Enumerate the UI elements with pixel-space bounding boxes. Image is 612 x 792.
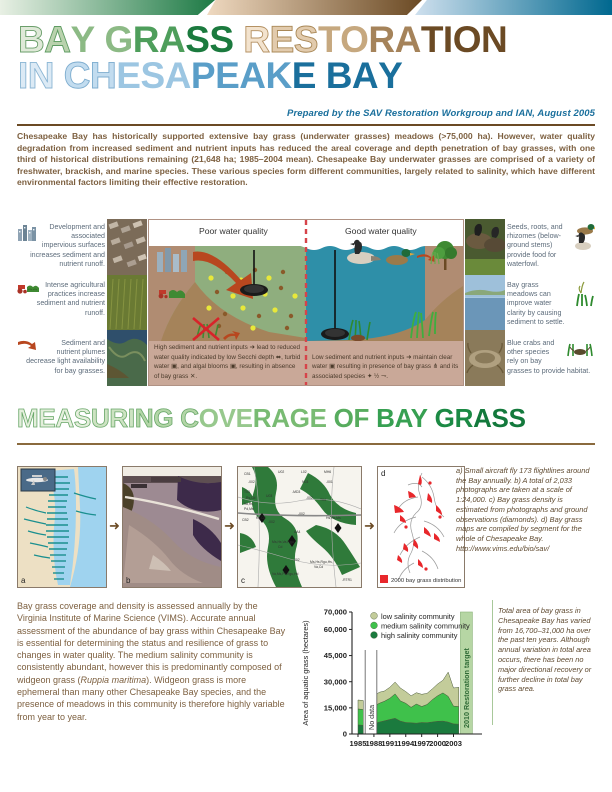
svg-text:Va,Ms,Pv,Rgu,Hd: Va,Ms,Pv,Rgu,Hd <box>272 572 299 576</box>
x-tick-label-1988: 1988 <box>365 739 382 748</box>
title-char: T <box>421 22 443 58</box>
chart-series-2-group-0 <box>358 700 363 710</box>
y-tick-label-45000: 45,000 <box>324 651 347 660</box>
svg-text:CB1: CB1 <box>244 472 251 476</box>
section-title-char: A <box>395 403 411 433</box>
arrow-a-to-b-icon: ➜ <box>109 518 120 534</box>
section-title-char: E <box>236 403 253 433</box>
title-char: S <box>140 58 164 94</box>
chart-sidenote: Total area of bay grass in Chesapeake Ba… <box>498 606 598 694</box>
svg-text:-001: -001 <box>326 480 333 484</box>
right-note-bluecrab: Blue crabs and other species rely on bay… <box>507 339 595 376</box>
title-char: B <box>326 58 352 94</box>
gradient-segment-green <box>0 0 215 15</box>
panel-a-flightlines[interactable]: a <box>17 466 107 588</box>
section-title-char: C <box>180 403 198 433</box>
title-char: K <box>265 58 291 94</box>
left-note-development: Development and associated impervious su… <box>17 223 105 269</box>
panel-d-legend-text: 2000 bay grass distribution <box>391 578 461 584</box>
svg-text:Ms,Hs,Rgu,Hs,: Ms,Hs,Rgu,Hs, <box>310 560 333 564</box>
left-notes-column: Development and associated impervious su… <box>17 219 105 386</box>
title-char: G <box>104 22 132 58</box>
grass-clarity-icon <box>573 281 595 310</box>
svg-text:-002: -002 <box>268 520 275 524</box>
title-char: A <box>44 22 70 58</box>
restoration-target-label: 2010 Restoration target <box>462 648 471 728</box>
title-char: S <box>185 22 209 58</box>
svg-text:202: 202 <box>294 558 300 562</box>
intro-paragraph: Chesapeake Bay has historically supporte… <box>17 131 595 189</box>
legend-swatch-2 <box>371 632 378 639</box>
title-char: A <box>395 22 421 58</box>
y-tick-label-0: 0 <box>343 730 347 739</box>
svg-text:Hs,Rs,Ms: Hs,Rs,Ms <box>326 516 341 520</box>
bottom-paragraph: Bay grass coverage and density is assess… <box>17 600 287 723</box>
section-title-char: I <box>128 403 135 433</box>
section-divider-rule <box>17 443 595 445</box>
svg-text:Pd,Ms: Pd,Ms <box>244 507 254 511</box>
title-char: N <box>28 58 54 94</box>
legend-swatch-0 <box>371 612 378 619</box>
section-title-char: Y <box>411 403 428 433</box>
title-char: N <box>481 22 507 58</box>
svg-text:T03: T03 <box>244 490 250 494</box>
blue-crab-icon <box>565 339 595 360</box>
y-tick-label-70000: 70,000 <box>324 608 347 617</box>
legend-swatch-red <box>380 575 388 583</box>
section-title-char: N <box>135 403 153 433</box>
left-photo-strip <box>107 219 147 386</box>
chart-series-0-group-0 <box>358 725 363 734</box>
left-note-plumes: Sediment and nutrient plumes decrease li… <box>17 339 105 376</box>
right-note-clarity: Bay grass meadows can improve water clar… <box>507 281 595 327</box>
section-title-char: R <box>109 403 127 433</box>
x-tick-label-2003: 2003 <box>445 739 462 748</box>
svg-text:CB2: CB2 <box>242 518 249 522</box>
svg-text:T04: T04 <box>320 498 326 502</box>
svg-text:AA4: AA4 <box>294 530 301 534</box>
species-name-italic: Ruppia maritima <box>81 675 147 685</box>
section-title-char: M <box>17 403 38 433</box>
title-divider-rule <box>17 124 595 126</box>
title-char: E <box>215 58 239 94</box>
byline: Prepared by the SAV Restoration Workgrou… <box>287 108 595 119</box>
title-char: O <box>340 22 368 58</box>
left-note-agriculture: Intense agricultural practices increase … <box>17 281 105 318</box>
title-char: S <box>294 22 318 58</box>
left-note-agriculture-text: Intense agricultural practices increase … <box>37 281 105 317</box>
title-line-1: BAY GRASS RESTORATION <box>18 22 598 58</box>
gradient-segment-tan <box>207 0 422 15</box>
water-quality-cross-section: Poor water quality Good water quality Hi… <box>148 219 464 386</box>
section-title-char: S <box>492 403 509 433</box>
title-char: C <box>64 58 90 94</box>
section-title-char <box>428 403 435 433</box>
title-char: E <box>270 22 294 58</box>
label-good-water-quality: Good water quality <box>345 226 417 236</box>
caption-good-water-quality: Low sediment and nutrient inputs ➜ maint… <box>312 353 460 381</box>
chart-sidenote-divider <box>492 600 493 725</box>
section-title-char: O <box>199 403 219 433</box>
gradient-segment-blue <box>415 0 612 15</box>
svg-text:U02: U02 <box>278 470 284 474</box>
left-note-development-text: Development and associated impervious su… <box>30 223 105 268</box>
panel-d-distribution-map[interactable]: d <box>377 466 465 588</box>
methods-note: a) Small aircraft fly 173 flightlines ar… <box>456 466 596 553</box>
section-title-char: E <box>38 403 55 433</box>
water-quality-diagram-band: Development and associated impervious su… <box>17 219 595 386</box>
section-title-char: U <box>91 403 109 433</box>
svg-text:N03: N03 <box>302 480 308 484</box>
panel-b-label: b <box>126 576 130 585</box>
panel-d-label: d <box>381 469 385 478</box>
svg-text:-002: -002 <box>306 496 313 500</box>
photo-suburb-farm-satellite <box>107 219 147 386</box>
arrow-b-to-c-icon: ➜ <box>224 518 235 534</box>
section-title-char <box>327 403 334 433</box>
svg-text:-002: -002 <box>248 480 255 484</box>
y-tick-label-60000: 60,000 <box>324 625 347 634</box>
methods-note-text: a) Small aircraft fly 173 flightlines ar… <box>456 466 590 543</box>
poster-title: BAY GRASS RESTORATION IN CHESAPEAKE BAY <box>18 22 598 94</box>
chart-series-1-group-0 <box>358 709 363 725</box>
title-char: T <box>318 22 340 58</box>
tractor-farm-icon <box>17 281 41 298</box>
section-title-char: G <box>290 403 310 433</box>
panel-d-legend: 2000 bay grass distribution <box>380 575 462 585</box>
section-title-char: B <box>376 403 394 433</box>
svg-text:-RTR1: -RTR1 <box>342 578 352 582</box>
svg-text:L02: L02 <box>301 470 307 474</box>
title-char: P <box>191 58 215 94</box>
title-char: E <box>116 58 140 94</box>
title-line-2: IN CHESAPEAKE BAY <box>18 58 598 94</box>
title-char: R <box>368 22 394 58</box>
title-char <box>316 58 326 94</box>
title-char: S <box>209 22 233 58</box>
svg-text:Rs,Cd: Rs,Cd <box>256 516 266 520</box>
title-char: R <box>133 22 159 58</box>
title-char: A <box>159 22 185 58</box>
svg-text:-002: -002 <box>298 512 305 516</box>
section-title-char: F <box>354 403 370 433</box>
section-title-char: A <box>271 403 289 433</box>
photo-geese-shoreline-crab <box>465 219 505 386</box>
legend-swatch-1 <box>371 622 378 629</box>
title-char: Y <box>70 22 94 58</box>
svg-text:-MD3: -MD3 <box>292 490 300 494</box>
section-title-char: R <box>253 403 271 433</box>
section-title-char: S <box>509 403 526 433</box>
waterfowl-duck-goose-icon <box>573 223 595 256</box>
brown-arrow-icon <box>17 339 39 356</box>
section-title-char: A <box>473 403 491 433</box>
right-notes-column: Seeds, roots, and rhizomes (below-ground… <box>507 219 595 386</box>
panel-c-label: c <box>241 576 245 585</box>
title-char: A <box>165 58 191 94</box>
vims-url[interactable]: http://www.vims.edu/bio/sav/ <box>456 544 549 553</box>
section-measuring-coverage: MEASURING COVERAGE OF BAY GRASS <box>17 405 595 431</box>
section-title-char: S <box>74 403 91 433</box>
x-tick-label-1997: 1997 <box>413 739 430 748</box>
legend-label-2: high salinity community <box>381 631 458 640</box>
top-gradient-bar <box>0 0 612 15</box>
y-tick-label-15000: 15,000 <box>324 703 347 712</box>
legend-label-1: medium salinity community <box>381 621 470 630</box>
title-char: E <box>292 58 316 94</box>
section-title-char: V <box>219 403 236 433</box>
svg-text:Va,Cd: Va,Cd <box>314 565 323 569</box>
caption-poor-water-quality: High sediment and nutrient inputs ➜ lead… <box>154 343 302 381</box>
section-title-char: E <box>310 403 327 433</box>
title-char <box>54 58 64 94</box>
title-char <box>95 22 105 58</box>
right-photo-strip <box>465 219 505 386</box>
title-char: A <box>239 58 265 94</box>
svg-text:Va,Rs,: Va,Rs, <box>244 502 254 506</box>
title-char: I <box>18 58 28 94</box>
section-title-char: R <box>455 403 473 433</box>
panel-b-aerial-photo[interactable]: b <box>122 466 222 588</box>
section-title-char: G <box>153 403 173 433</box>
svg-text:Rs,Cd: Rs,Cd <box>246 496 256 500</box>
svg-text:Cd: Cd <box>278 545 282 549</box>
x-tick-label-2000: 2000 <box>429 739 446 748</box>
label-poor-water-quality: Poor water quality <box>199 226 268 236</box>
bottom-paragraph-part-a: Bay grass coverage and density is assess… <box>17 601 285 685</box>
svg-text:MH6: MH6 <box>324 470 331 474</box>
bay-grass-area-chart[interactable]: 2010 Restoration targetNo data015,00030,… <box>296 600 492 762</box>
title-char: B <box>18 22 44 58</box>
section-title-char: G <box>435 403 455 433</box>
title-char: O <box>453 22 481 58</box>
section-title-char: O <box>334 403 354 433</box>
svg-text:Ms,Hs,Va,Rgu: Ms,Hs,Va,Rgu <box>272 540 294 544</box>
no-data-label: No data <box>367 705 376 730</box>
title-char <box>234 22 244 58</box>
legend-label-0: low salinity community <box>381 612 455 621</box>
title-char: A <box>352 58 378 94</box>
right-note-waterfowl: Seeds, roots, and rhizomes (below-ground… <box>507 223 595 269</box>
y-axis-label: Area of aquatic grass (hectares) <box>301 620 310 725</box>
panel-c-density-map[interactable]: CB1-002 U02L02MH6 N03-001 T03Rs,Cd Va,Rs… <box>237 466 362 588</box>
title-char: R <box>243 22 269 58</box>
section-title-char: A <box>55 403 73 433</box>
title-char: I <box>443 22 453 58</box>
right-note-waterfowl-text: Seeds, roots, and rhizomes (below-ground… <box>507 223 563 268</box>
svg-text:U03: U03 <box>266 494 272 498</box>
y-tick-label-30000: 30,000 <box>324 677 347 686</box>
section-title: MEASURING COVERAGE OF BAY GRASS <box>17 405 595 431</box>
city-buildings-icon <box>17 223 37 244</box>
title-char: Y <box>378 58 402 94</box>
arrow-c-to-d-icon: ➜ <box>364 518 375 534</box>
right-note-clarity-text: Bay grass meadows can improve water clar… <box>507 281 565 326</box>
title-char: H <box>90 58 116 94</box>
panel-a-label: a <box>21 576 25 585</box>
